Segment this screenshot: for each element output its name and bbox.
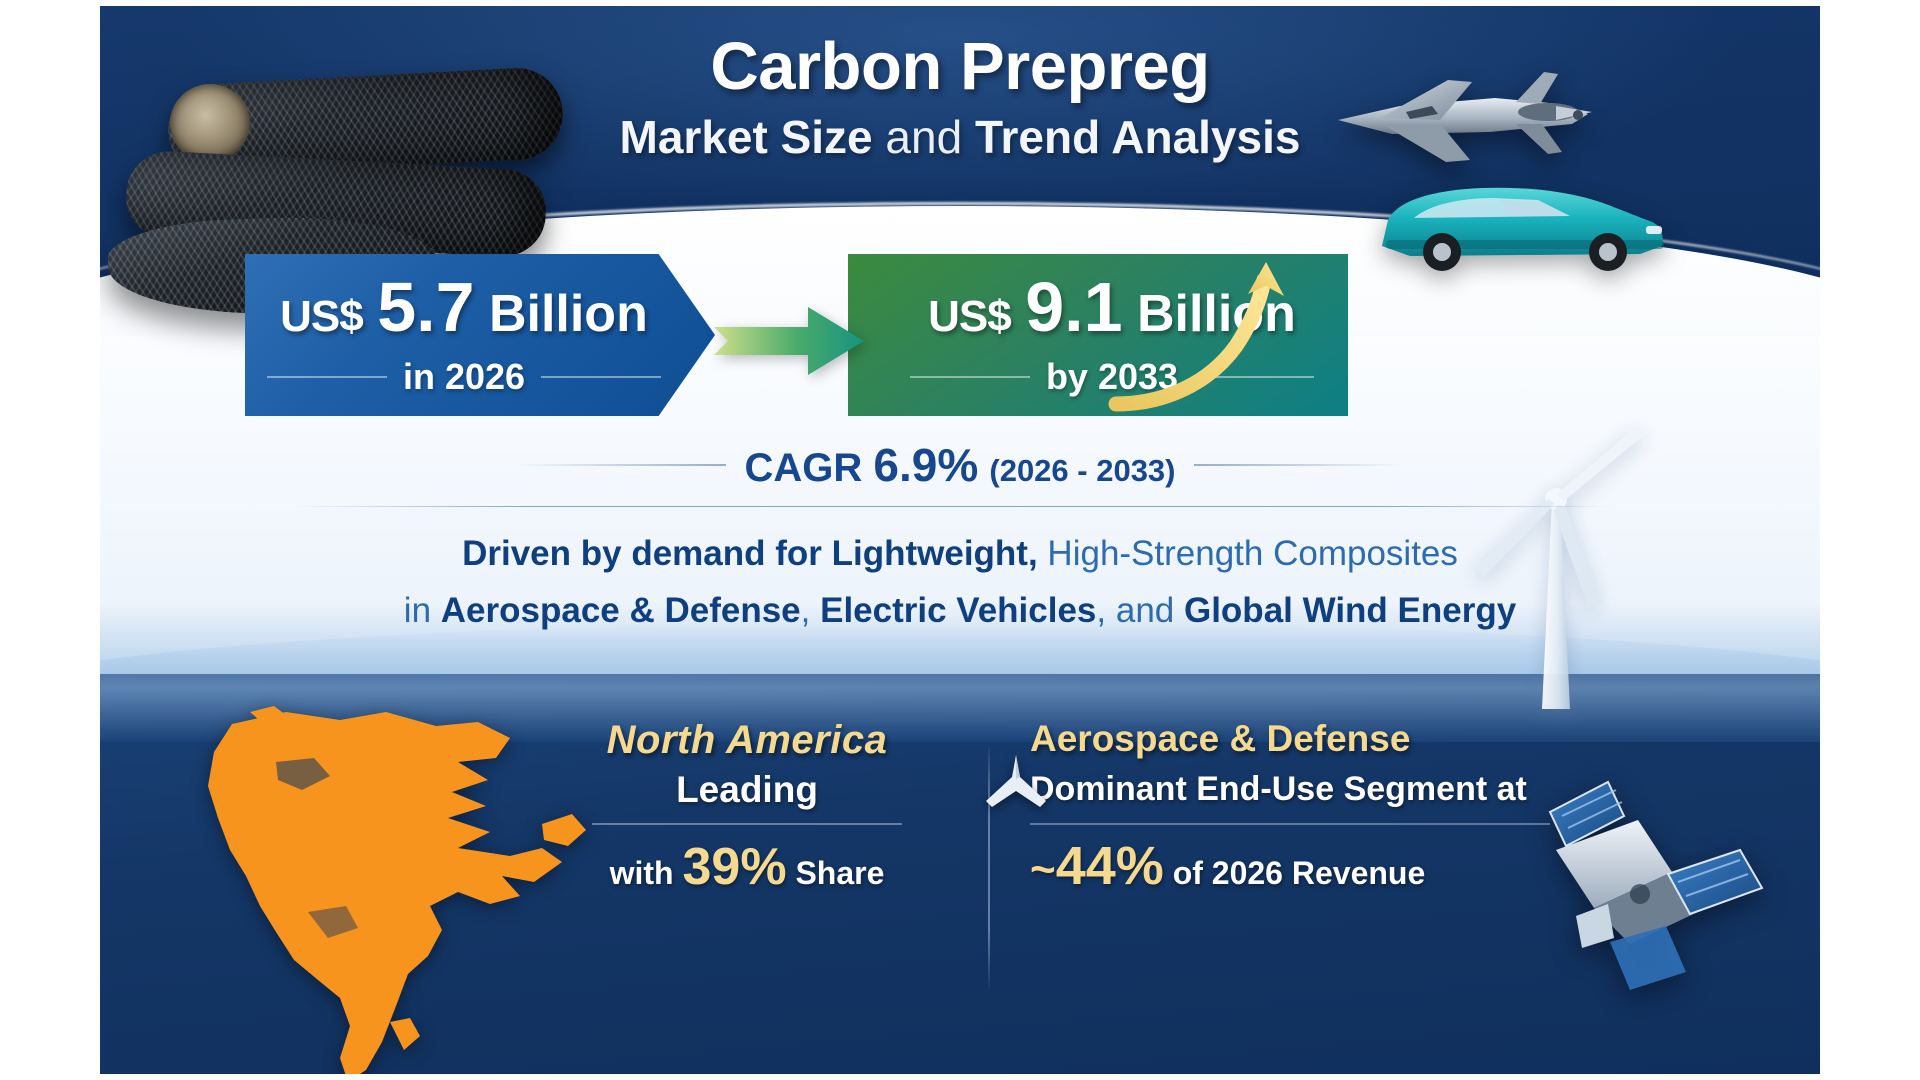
- cagr-label: CAGR: [744, 446, 862, 490]
- cagr-row: CAGR 6.9% (2026 - 2033): [100, 438, 1820, 492]
- subtitle-conjunction: and: [873, 111, 975, 163]
- header-block: Carbon Prepreg Market Size and Trend Ana…: [100, 32, 1820, 163]
- driver-sep-2: , and: [1096, 591, 1184, 630]
- driver-line-1: Driven by demand for Lightweight, High-S…: [100, 526, 1820, 583]
- infographic-canvas: Carbon Prepreg Market Size and Trend Ana…: [100, 6, 1820, 1074]
- current-rule-left: [267, 376, 387, 378]
- forecast-banner-overlay: [848, 254, 1348, 416]
- current-value: 5.7: [377, 268, 474, 346]
- leading-region-status: Leading: [552, 769, 942, 811]
- dominant-segment-name: Aerospace & Defense: [1030, 718, 1590, 760]
- jet-plane-icon: [980, 751, 1052, 811]
- leading-region-rule: [592, 823, 902, 825]
- current-unit: Billion: [489, 285, 648, 343]
- leading-region-name: North America: [552, 718, 942, 763]
- driver-segment-wind: Global Wind Energy: [1184, 591, 1516, 630]
- infographic-root: Carbon Prepreg Market Size and Trend Ana…: [0, 0, 1920, 1080]
- current-rule-right: [541, 376, 661, 378]
- cagr-value: 6.9%: [873, 439, 978, 491]
- driver-text-block: Driven by demand for Lightweight, High-S…: [100, 526, 1820, 639]
- upward-growth-arrow-icon: [848, 254, 1348, 416]
- subtitle-part-2: Trend Analysis: [975, 111, 1301, 163]
- current-period-row: in 2026: [262, 356, 666, 398]
- dominant-segment-tilde: ~: [1030, 845, 1056, 894]
- driver-segment-aerospace: Aerospace & Defense: [441, 591, 801, 630]
- cagr-rule-left: [516, 464, 726, 466]
- section-divider: [295, 506, 1615, 507]
- dominant-segment-rule: [1030, 823, 1550, 825]
- leading-region-share-label: Share: [795, 855, 884, 891]
- cagr-range: (2026 - 2033): [989, 453, 1175, 488]
- leading-region-share: 39%: [682, 838, 786, 896]
- dominant-segment-description: Dominant End-Use Segment at: [1030, 770, 1590, 809]
- leading-region-share-line: with 39% Share: [552, 837, 942, 897]
- dominant-segment-share-line: ~44% of 2026 Revenue: [1030, 835, 1590, 897]
- driver-sep-1: ,: [801, 591, 820, 630]
- driver-segment-ev: Electric Vehicles: [820, 591, 1096, 630]
- bottom-stats-block: North America Leading with 39% Share Aer…: [100, 718, 1820, 1018]
- driver-line-2: in Aerospace & Defense, Electric Vehicle…: [100, 583, 1820, 640]
- subtitle-part-1: Market Size: [620, 111, 873, 163]
- leading-region-with-label: with: [610, 855, 674, 891]
- current-value-line: US$ 5.7 Billion: [280, 272, 648, 342]
- dominant-segment-stat: Aerospace & Defense Dominant End-Use Seg…: [1030, 718, 1590, 897]
- leading-region-stat: North America Leading with 39% Share: [552, 718, 942, 897]
- cagr-text: CAGR 6.9% (2026 - 2033): [744, 438, 1175, 492]
- page-title: Carbon Prepreg: [100, 32, 1820, 102]
- current-period: in 2026: [403, 356, 525, 398]
- current-period-year: 2026: [445, 356, 525, 397]
- driver-line-1-bold: Driven by demand for Lightweight,: [462, 534, 1038, 573]
- current-currency: US$: [280, 292, 363, 341]
- driver-line-2-prefix: in: [404, 591, 441, 630]
- dominant-segment-share: 44%: [1056, 836, 1164, 896]
- cagr-rule-right: [1194, 464, 1404, 466]
- dominant-segment-share-suffix: of 2026 Revenue: [1173, 855, 1426, 891]
- page-subtitle: Market Size and Trend Analysis: [100, 112, 1820, 163]
- driver-line-1-light: High-Strength Composites: [1047, 534, 1457, 573]
- current-period-prefix: in: [403, 356, 435, 397]
- current-market-size-banner: US$ 5.7 Billion in 2026: [245, 254, 715, 416]
